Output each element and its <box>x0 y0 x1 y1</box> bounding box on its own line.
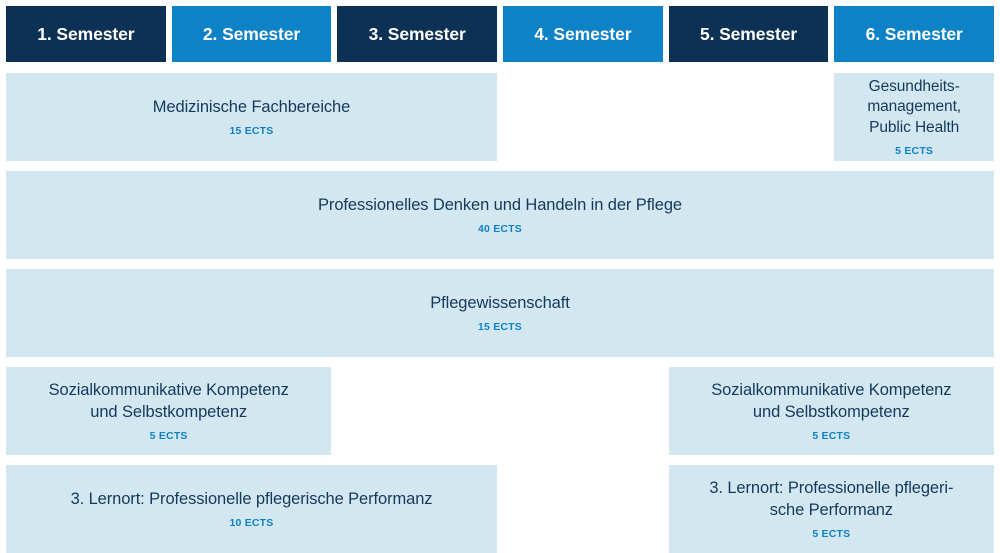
module-ects: 5 ECTS <box>812 528 850 540</box>
module-title-line-1: Sozialkommunikative Kompetenz <box>711 381 951 399</box>
module-ects: 5 ECTS <box>895 145 933 157</box>
module-title-line-2: und Selbstkompetenz <box>90 403 247 421</box>
module-title-line-2: und Selbstkompetenz <box>753 403 910 421</box>
module-title-line-2: sche Performanz <box>770 501 893 519</box>
semester-header-3[interactable]: 3. Semester <box>337 6 497 62</box>
module-title: 3. Lernort: Professionelle pflegerische … <box>71 489 433 510</box>
module-card-sozialkommunikative-kompetenz-right[interactable]: Sozialkommunikative Kompetenz und Selbst… <box>669 367 994 455</box>
module-title: Gesundheits- management, Public Health <box>867 77 961 137</box>
semester-header-6-label: 6. Semester <box>866 24 963 45</box>
semester-header-5[interactable]: 5. Semester <box>669 6 829 62</box>
module-title: Sozialkommunikative Kompetenz und Selbst… <box>49 380 289 422</box>
module-card-sozialkommunikative-kompetenz-left[interactable]: Sozialkommunikative Kompetenz und Selbst… <box>6 367 331 455</box>
module-title-line-1: Sozialkommunikative Kompetenz <box>49 381 289 399</box>
module-ects: 10 ECTS <box>230 517 274 529</box>
semester-header-row: 1. Semester 2. Semester 3. Semester 4. S… <box>6 6 994 62</box>
semester-header-2[interactable]: 2. Semester <box>172 6 332 62</box>
semester-header-1-label: 1. Semester <box>37 24 134 45</box>
semester-header-1[interactable]: 1. Semester <box>6 6 166 62</box>
module-title: 3. Lernort: Professionelle pflegeri- sch… <box>709 478 953 520</box>
semester-header-5-label: 5. Semester <box>700 24 797 45</box>
module-ects: 5 ECTS <box>812 430 850 442</box>
module-title-line-2: management, <box>867 98 961 115</box>
module-title: Pflegewissenschaft <box>430 293 569 314</box>
semester-header-6[interactable]: 6. Semester <box>834 6 994 62</box>
module-title-line-1: 3. Lernort: Professionelle pflegeri- <box>709 479 953 497</box>
module-title-line-3: Public Health <box>869 119 959 136</box>
module-title: Sozialkommunikative Kompetenz und Selbst… <box>711 380 951 422</box>
curriculum-diagram: 1. Semester 2. Semester 3. Semester 4. S… <box>0 0 1000 530</box>
module-card-3-lernort-performanz-left[interactable]: 3. Lernort: Professionelle pflegerische … <box>6 465 497 553</box>
module-card-pflegewissenschaft[interactable]: Pflegewissenschaft 15 ECTS <box>6 269 994 357</box>
module-card-medizinische-fachbereiche[interactable]: Medizinische Fachbereiche 15 ECTS <box>6 73 497 161</box>
semester-header-2-label: 2. Semester <box>203 24 300 45</box>
module-ects: 15 ECTS <box>230 125 274 137</box>
module-ects: 15 ECTS <box>478 321 522 333</box>
module-grid: Medizinische Fachbereiche 15 ECTS Gesund… <box>6 73 994 553</box>
module-title: Professionelles Denken und Handeln in de… <box>318 195 682 216</box>
module-card-3-lernort-performanz-right[interactable]: 3. Lernort: Professionelle pflegeri- sch… <box>669 465 994 553</box>
semester-header-4-label: 4. Semester <box>534 24 631 45</box>
module-title-line-1: Gesundheits- <box>869 78 960 95</box>
module-title: Medizinische Fachbereiche <box>153 97 350 118</box>
module-ects: 40 ECTS <box>478 223 522 235</box>
semester-header-3-label: 3. Semester <box>369 24 466 45</box>
semester-header-4[interactable]: 4. Semester <box>503 6 663 62</box>
module-ects: 5 ECTS <box>150 430 188 442</box>
module-card-professionelles-denken-und-handeln-in-der-pflege[interactable]: Professionelles Denken und Handeln in de… <box>6 171 994 259</box>
module-card-gesundheitsmanagement-public-health[interactable]: Gesundheits- management, Public Health 5… <box>834 73 994 161</box>
